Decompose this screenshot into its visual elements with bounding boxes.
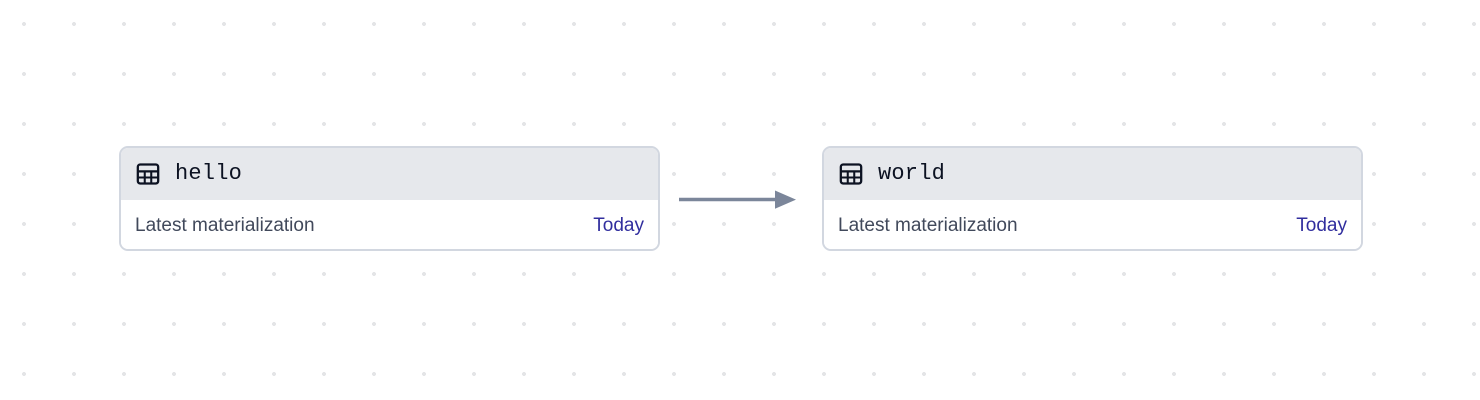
asset-node-body: Latest materialization Today <box>121 200 658 251</box>
asset-node-hello[interactable]: hello Latest materialization Today <box>119 146 660 251</box>
asset-node-world[interactable]: world Latest materialization Today <box>822 146 1363 251</box>
arrow-right-icon <box>775 191 796 209</box>
asset-node-title: world <box>878 163 945 185</box>
latest-materialization-value[interactable]: Today <box>593 215 644 237</box>
asset-node-header[interactable]: world <box>824 148 1361 200</box>
latest-materialization-label: Latest materialization <box>135 215 315 237</box>
asset-node-header[interactable]: hello <box>121 148 658 200</box>
asset-graph-canvas[interactable]: hello Latest materialization Today <box>0 0 1480 400</box>
asset-node-body: Latest materialization Today <box>824 200 1361 251</box>
edge-hello-to-world <box>676 182 800 218</box>
table-icon <box>135 161 161 187</box>
latest-materialization-value[interactable]: Today <box>1296 215 1347 237</box>
latest-materialization-label: Latest materialization <box>838 215 1018 237</box>
table-icon <box>838 161 864 187</box>
asset-node-title: hello <box>175 163 242 185</box>
